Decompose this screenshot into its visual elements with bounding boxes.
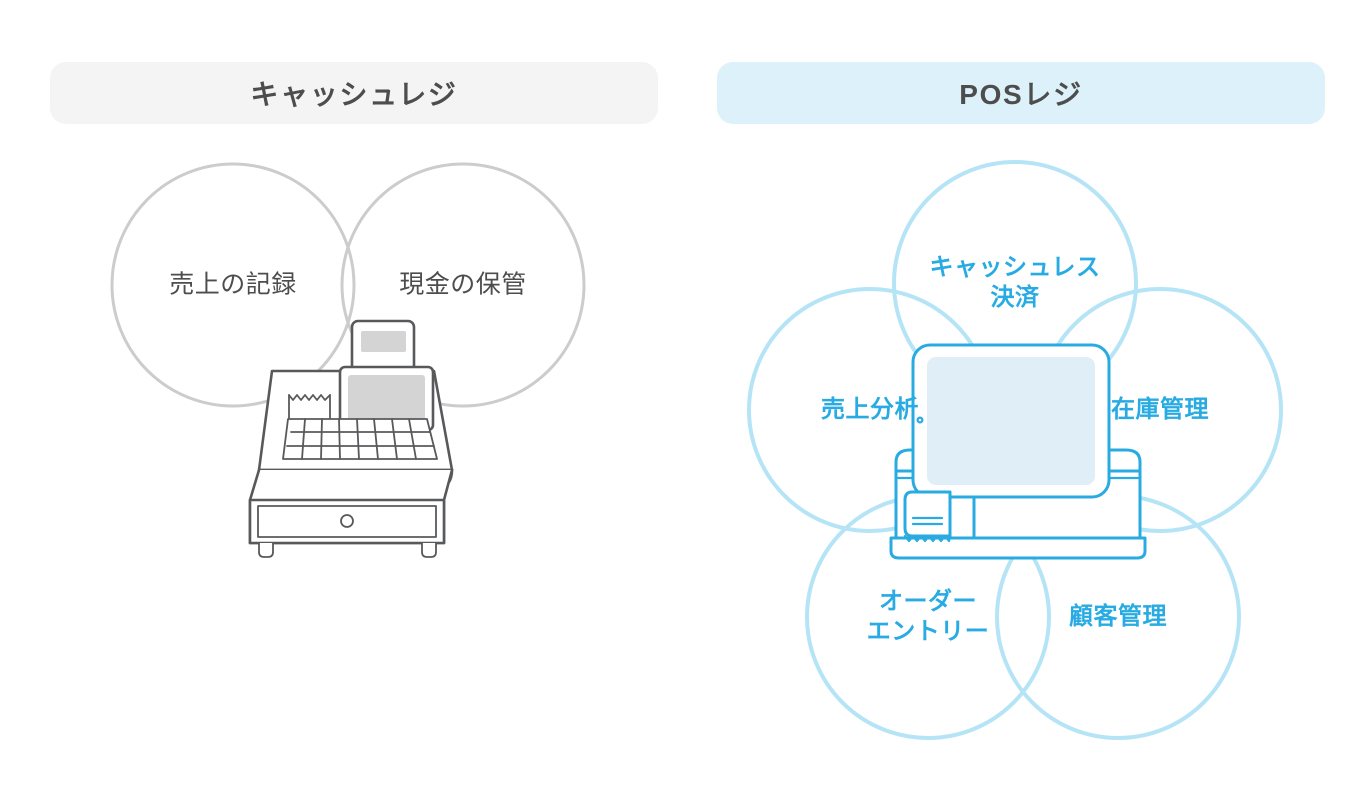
drawer-knob — [341, 515, 353, 527]
circle-label-cash-storage: 現金の保管 — [399, 269, 527, 300]
circle-label-sales-record: 売上の記録 — [169, 269, 297, 300]
pos-register-diagram — [684, 0, 1368, 800]
register-foot-right — [422, 543, 436, 557]
cash-register-illustration — [250, 321, 452, 557]
circle-label-inventory-management: 在庫管理 — [1111, 395, 1209, 425]
cash-register-diagram — [0, 0, 684, 800]
terminal-foot — [891, 538, 1145, 558]
pos-terminal-illustration — [891, 345, 1145, 558]
panel-pos-register: POSレジ — [684, 0, 1368, 800]
circle-label-customer-management: 顧客管理 — [1069, 602, 1167, 632]
circle-label-sales-analysis: 売上分析 — [821, 395, 919, 425]
operator-screen — [348, 375, 425, 422]
receipt-paper — [905, 492, 950, 536]
circle-label-cashless-payment: キャッシュレス 決済 — [930, 253, 1101, 313]
keypad — [283, 419, 437, 459]
panel-cash-register: キャッシュレジ — [0, 0, 684, 800]
pos-tablet-screen — [927, 357, 1095, 485]
circle-label-order-entry: オーダー エントリー — [867, 587, 989, 647]
register-foot-left — [259, 543, 273, 557]
